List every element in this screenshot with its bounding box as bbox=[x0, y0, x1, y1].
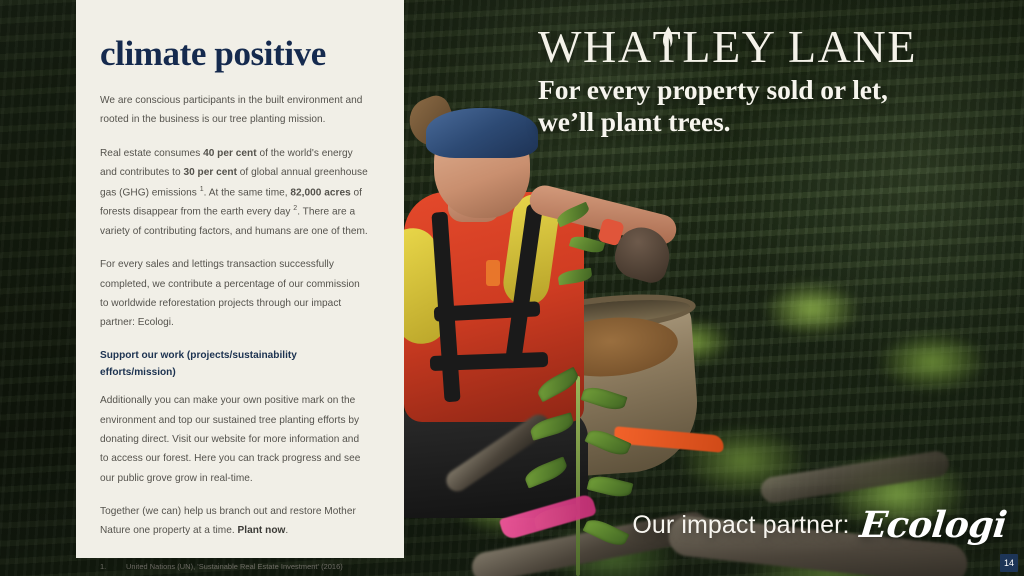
paragraph-donate: Additionally you can make your own posit… bbox=[100, 391, 370, 488]
tagline: For every property sold or let, we’ll pl… bbox=[538, 74, 1008, 139]
footnote-item: 1. United Nations (UN), 'Sustainable Rea… bbox=[100, 561, 370, 574]
seedling-in-hand bbox=[556, 198, 614, 318]
brand-header: WHA T LEY LANE For every property sold o… bbox=[538, 24, 1008, 139]
tagline-line-1: For every property sold or let, bbox=[538, 74, 1008, 106]
harness-clip bbox=[486, 260, 500, 286]
footnote-number: 1. bbox=[100, 561, 126, 574]
paragraph-intro: We are conscious participants in the bui… bbox=[100, 91, 370, 130]
page-number-badge: 14 bbox=[1000, 554, 1018, 572]
logo-text-part-2: LEY LANE bbox=[682, 24, 917, 70]
text-panel: climate positive We are conscious partic… bbox=[76, 0, 404, 558]
paragraph-stats: Real estate consumes 40 per cent of the … bbox=[100, 144, 370, 242]
support-subheading: Support our work (projects/sustainabilit… bbox=[100, 347, 370, 381]
impact-partner-label: Our impact partner: bbox=[632, 511, 849, 540]
logo-t-with-leaf: T bbox=[653, 24, 683, 70]
ecologi-logo: Ecologi bbox=[857, 504, 1008, 546]
whatley-lane-logo: WHA T LEY LANE bbox=[538, 24, 1008, 70]
impact-partner-block: Our impact partner: Ecologi bbox=[632, 504, 1006, 546]
sapling-stem bbox=[576, 376, 580, 576]
footnotes-list: 1. United Nations (UN), 'Sustainable Rea… bbox=[100, 561, 370, 576]
logo-text-part-t: T bbox=[653, 21, 683, 72]
slide-canvas: climate positive We are conscious partic… bbox=[0, 0, 1024, 576]
footnote-text: United Nations (UN), 'Sustainable Real E… bbox=[126, 561, 343, 574]
paragraph-commission: For every sales and lettings transaction… bbox=[100, 255, 370, 333]
logo-text-part-1: WHA bbox=[538, 24, 653, 70]
paragraph-closing: Together (we can) help us branch out and… bbox=[100, 502, 370, 541]
planter-bandana bbox=[426, 108, 538, 158]
tagline-line-2: we’ll plant trees. bbox=[538, 106, 1008, 138]
page-title: climate positive bbox=[100, 36, 370, 71]
